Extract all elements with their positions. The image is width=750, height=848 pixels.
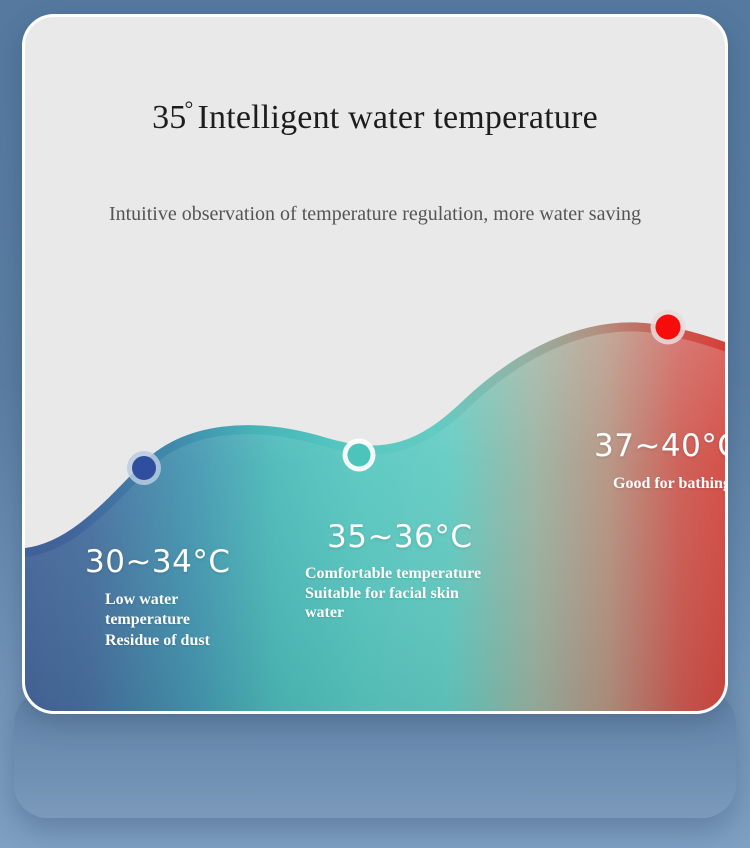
- segment-description-low: Low water temperature Residue of dust: [105, 590, 231, 651]
- segment-desc-line: temperature: [105, 610, 231, 630]
- segment-description-comfortable: Comfortable temperature Suitable for fac…: [305, 564, 481, 623]
- segment-desc-line: water: [305, 603, 481, 623]
- segment-desc-line: Suitable for facial skin: [305, 584, 481, 604]
- segment-desc-line: Low water: [105, 590, 231, 610]
- segment-range-low: 30~34°C: [85, 544, 231, 580]
- segment-desc-line: Residue of dust: [105, 631, 231, 651]
- segment-description-bathing: Good for bathing: [613, 474, 728, 494]
- segment-desc-line: Comfortable temperature: [305, 564, 481, 584]
- segment-desc-line: Good for bathing: [613, 474, 728, 494]
- temperature-info-card: 35°Intelligent water temperature Intuiti…: [22, 14, 728, 714]
- segment-range-bathing: 37~40°C: [594, 428, 728, 464]
- low-temperature-marker[interactable]: [127, 451, 161, 485]
- segment-range-comfortable: 35~36°C: [327, 519, 481, 555]
- comfortable-temperature-marker[interactable]: [343, 439, 376, 472]
- segment-label-bathing: 37~40°C Good for bathing: [594, 428, 728, 494]
- bathing-temperature-marker[interactable]: [651, 310, 686, 345]
- segment-label-low: 30~34°C Low water temperature Residue of…: [85, 544, 231, 651]
- segment-label-comfortable: 35~36°C Comfortable temperature Suitable…: [305, 519, 481, 623]
- card-inner: 35°Intelligent water temperature Intuiti…: [25, 17, 725, 711]
